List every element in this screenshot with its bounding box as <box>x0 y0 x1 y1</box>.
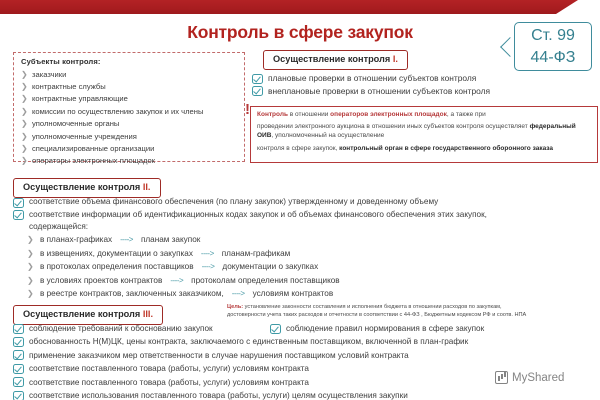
arrow-bullet-icon: ❯ <box>21 106 32 118</box>
checkbox-checked-icon <box>13 350 24 360</box>
mapping-row: ❯ в протоколах определения поставщиков -… <box>13 260 599 273</box>
list-item: ❯ специализированные организации <box>21 143 238 155</box>
section-header-control-2: Осуществление контроля II. <box>13 178 161 198</box>
info-keyword-operators: операторов электронных площадок <box>330 111 447 118</box>
checkbox-checked-icon <box>252 86 263 96</box>
mapping-row: ❯ в реестре контрактов, заключенных зака… <box>13 287 599 300</box>
slide-canvas: Контроль в сфере закупок Ст. 99 44-ФЗ Су… <box>0 0 600 400</box>
info-paragraph-1: Контроль в отношении операторов электрон… <box>257 110 592 119</box>
section-1-checklist: плановые проверки в отношении субъектов … <box>252 72 597 97</box>
info-paragraph-3: контроля в сфере закупок, контрольный ор… <box>257 144 592 153</box>
check-label: соответствие поставленного товара (работ… <box>29 376 309 389</box>
section-2-checklist: соответствие объема финансового обеспече… <box>13 196 599 300</box>
checkbox-checked-icon <box>13 391 24 400</box>
checkbox-checked-icon <box>13 210 24 220</box>
dashed-arrow-icon: ----> <box>201 247 214 260</box>
top-banner <box>0 0 600 16</box>
mapping-source: в протоколах определения поставщиков <box>40 260 194 273</box>
section-header-numeral: I. <box>393 54 398 64</box>
law-reference-callout: Ст. 99 44-ФЗ <box>514 22 592 71</box>
check-label: плановые проверки в отношении субъектов … <box>268 72 476 85</box>
subjects-title: Субъекты контроля: <box>21 57 238 66</box>
arrow-bullet-icon: ❯ <box>27 234 40 246</box>
check-label: внеплановые проверки в отношении субъект… <box>268 85 490 98</box>
subject-label: контрактные управляющие <box>32 93 128 105</box>
subject-label: контрактные службы <box>32 81 106 93</box>
info-paragraph-2: проведении электронного аукциона в отнош… <box>257 122 592 140</box>
mapping-target: протоколам определения поставщиков <box>191 274 340 287</box>
mapping-source: в планах-графиках <box>40 233 112 246</box>
mapping-target: планам-графикам <box>222 247 291 260</box>
checkbox-checked-icon <box>13 377 24 387</box>
check-label: обоснованность Н(М)ЦК, цены контракта, з… <box>29 335 468 348</box>
watermark-label: MyShared <box>512 372 564 384</box>
mapping-row: ❯ в извещениях, документации о закупках … <box>13 247 599 260</box>
subjects-box: Субъекты контроля: ❯ заказчики ❯ контрак… <box>13 52 245 162</box>
list-item: ❯ контрактные управляющие <box>21 93 238 105</box>
subject-label: уполномоченные органы <box>32 118 119 130</box>
purpose-label: Цель: <box>227 304 243 310</box>
arrow-bullet-icon: ❯ <box>21 69 32 81</box>
arrow-bullet-icon: ❯ <box>21 118 32 130</box>
arrow-bullet-icon: ❯ <box>27 261 40 273</box>
mapping-source: в реестре контрактов, заключенных заказч… <box>40 287 224 300</box>
info-text-tail: , а также при <box>447 111 486 118</box>
myshared-watermark: MyShared <box>495 371 564 384</box>
checkbox-checked-icon <box>13 324 24 334</box>
arrow-bullet-icon: ❯ <box>21 155 32 167</box>
banner-bar <box>0 0 578 14</box>
dashed-arrow-icon: ----> <box>202 260 215 273</box>
control-authority-info-box: Контроль в отношении операторов электрон… <box>250 106 598 163</box>
section-header-label: Осуществление контроля <box>23 182 140 192</box>
info-text: проведении электронного аукциона в отнош… <box>257 123 530 130</box>
dashed-arrow-icon: ----> <box>170 274 183 287</box>
arrow-bullet-icon: ❯ <box>21 131 32 143</box>
subject-label: уполномоченные учреждения <box>32 131 137 143</box>
mapping-target: документации о закупках <box>222 260 318 273</box>
mapping-row: ❯ в планах-графиках ----> планам закупок <box>13 233 599 246</box>
mapping-target: планам закупок <box>141 233 200 246</box>
section-header-numeral: II. <box>143 182 151 192</box>
list-item: соответствие объема финансового обеспече… <box>13 196 599 209</box>
info-text: , уполномоченный на осуществление <box>271 132 384 139</box>
mapping-source: в извещениях, документации о закупках <box>40 247 193 260</box>
presentation-icon <box>495 371 508 384</box>
subject-label: заказчики <box>32 69 66 81</box>
check-label-continuation: содержащейся: <box>13 221 599 233</box>
check-label: соблюдение требований к обоснованию заку… <box>29 322 213 335</box>
arrow-bullet-icon: ❯ <box>21 93 32 105</box>
list-item: ❯ уполномоченные учреждения <box>21 131 238 143</box>
arrow-bullet-icon: ❯ <box>27 275 40 287</box>
subject-label: специализированные организации <box>32 143 154 155</box>
list-item: соответствие информации об идентификацио… <box>13 209 599 222</box>
check-label: применение заказчиком мер ответственност… <box>29 349 409 362</box>
info-text: в отношении <box>288 111 330 118</box>
purpose-line-1: установление законности составления и ис… <box>243 304 501 310</box>
info-keyword-defense-order: контрольный орган в сфере государственно… <box>339 145 553 152</box>
section-header-label: Осуществление контроля <box>273 54 390 64</box>
checkbox-checked-icon <box>270 324 281 334</box>
info-keyword-control: Контроль <box>257 111 288 118</box>
list-item: ❯ операторы электронных площадок <box>21 155 238 167</box>
list-item: ❯ комиссии по осуществлению закупок и их… <box>21 106 238 118</box>
check-label: соответствие поставленного товара (работ… <box>29 362 309 375</box>
checkbox-checked-icon <box>13 198 24 208</box>
arrow-bullet-icon: ❯ <box>21 143 32 155</box>
mapping-source: в условиях проектов контрактов <box>40 274 162 287</box>
check-label: соблюдение правил нормирования в сфере з… <box>286 322 484 335</box>
list-item: обоснованность Н(М)ЦК, цены контракта, з… <box>13 335 599 348</box>
list-item: внеплановые проверки в отношении субъект… <box>252 85 597 98</box>
info-text: контроля в сфере закупок, <box>257 145 339 152</box>
check-label: соответствие использования поставленного… <box>29 389 408 400</box>
subject-label: операторы электронных площадок <box>32 155 155 167</box>
purpose-note: Цель: установление законности составлени… <box>227 303 599 319</box>
purpose-line-2: достоверности учета таких расходов и отч… <box>227 311 599 319</box>
list-item: плановые проверки в отношении субъектов … <box>252 72 597 85</box>
law-reference-line2: 44-ФЗ <box>515 47 591 69</box>
dashed-arrow-icon: ----> <box>232 287 245 300</box>
check-label: соответствие объема финансового обеспече… <box>29 196 438 209</box>
list-item: ❯ уполномоченные органы <box>21 118 238 130</box>
arrow-bullet-icon: ❯ <box>27 248 40 260</box>
section-header-numeral: III. <box>143 309 153 319</box>
law-reference-line1: Ст. 99 <box>515 25 591 47</box>
section-header-control-1: Осуществление контроля I. <box>263 50 408 70</box>
checkbox-checked-icon <box>13 364 24 374</box>
list-item: ❯ заказчики <box>21 69 238 81</box>
check-label: соответствие информации об идентификацио… <box>29 209 487 222</box>
list-item: применение заказчиком мер ответственност… <box>13 349 599 362</box>
dashed-arrow-icon: ----> <box>120 233 133 246</box>
subject-label: комиссии по осуществлению закупок и их ч… <box>32 106 203 118</box>
checkbox-checked-icon <box>13 337 24 347</box>
arrow-bullet-icon: ❯ <box>21 81 32 93</box>
checkbox-checked-icon <box>252 74 263 84</box>
list-item: соответствие использования поставленного… <box>13 389 599 400</box>
arrow-bullet-icon: ❯ <box>27 288 40 300</box>
section-header-label: Осуществление контроля <box>23 309 140 319</box>
section-3-side-check: соблюдение правил нормирования в сфере з… <box>270 322 484 335</box>
list-item: ❯ контрактные службы <box>21 81 238 93</box>
mapping-target: условиям контрактов <box>253 287 334 300</box>
mapping-row: ❯ в условиях проектов контрактов ----> п… <box>13 274 599 287</box>
